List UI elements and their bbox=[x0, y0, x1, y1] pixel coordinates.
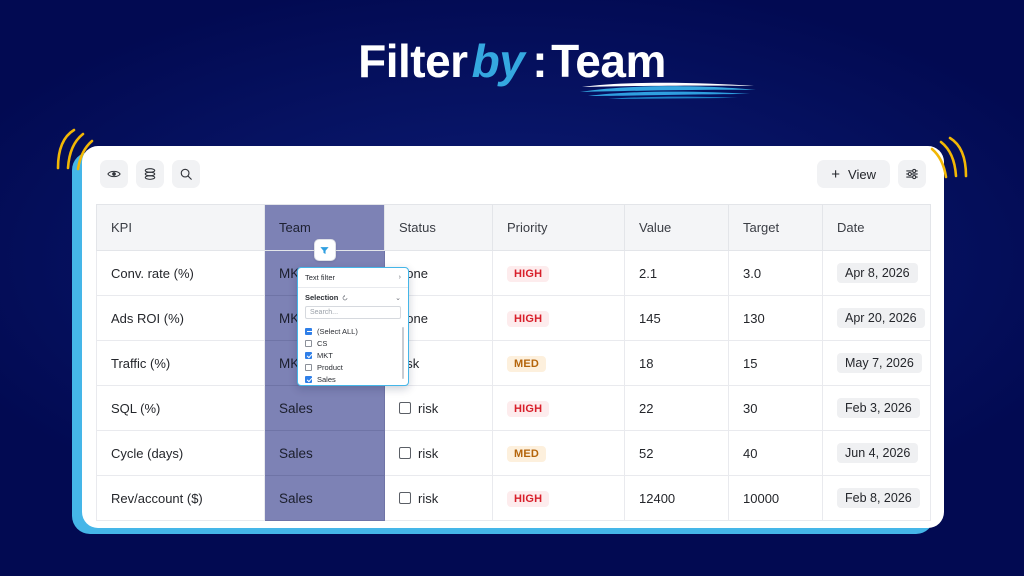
title-part-team: Team bbox=[551, 35, 666, 87]
filter-option-checkbox[interactable] bbox=[305, 328, 312, 335]
layers-icon-button[interactable] bbox=[136, 160, 164, 188]
layers-icon bbox=[143, 167, 157, 181]
value-text: 22 bbox=[639, 401, 653, 416]
table-row[interactable]: Ads ROI (%)MKTdoneHIGH145130Apr 20, 2026 bbox=[97, 296, 931, 341]
column-header-value[interactable]: Value bbox=[625, 205, 729, 251]
filter-option-label: MKT bbox=[317, 351, 333, 360]
cell-priority[interactable]: HIGH bbox=[493, 476, 625, 521]
filter-option-label: Sales bbox=[317, 375, 336, 384]
cell-status[interactable]: risk bbox=[385, 386, 493, 431]
cell-target[interactable]: 10000 bbox=[729, 476, 823, 521]
table-header-row: KPI Team Status Priority Value Target Da… bbox=[97, 205, 931, 251]
search-icon-button[interactable] bbox=[172, 160, 200, 188]
date-chip: Jun 4, 2026 bbox=[837, 443, 918, 463]
column-header-team[interactable]: Team bbox=[265, 205, 385, 251]
table-row[interactable]: Conv. rate (%)MKTdoneHIGH2.13.0Apr 8, 20… bbox=[97, 251, 931, 296]
cell-target[interactable]: 40 bbox=[729, 431, 823, 476]
cell-team[interactable]: Sales bbox=[265, 386, 385, 431]
sliders-icon bbox=[905, 167, 919, 181]
cell-date[interactable]: Feb 3, 2026 bbox=[823, 386, 931, 431]
kpi-table: KPI Team Status Priority Value Target Da… bbox=[96, 204, 931, 521]
add-view-label: View bbox=[848, 167, 876, 182]
filter-option[interactable]: MKT bbox=[305, 349, 408, 361]
cell-kpi[interactable]: Traffic (%) bbox=[97, 341, 265, 386]
cell-priority[interactable]: HIGH bbox=[493, 296, 625, 341]
selection-row[interactable]: Selection ⌄ bbox=[298, 288, 408, 306]
filter-search-input[interactable]: Search... bbox=[305, 306, 401, 319]
filter-option-checkbox[interactable] bbox=[305, 340, 312, 347]
column-header-kpi[interactable]: KPI bbox=[97, 205, 265, 251]
status-checkbox[interactable] bbox=[399, 402, 411, 414]
cell-status[interactable]: risk bbox=[385, 476, 493, 521]
filter-option[interactable]: Sales bbox=[305, 373, 408, 385]
cell-kpi[interactable]: Ads ROI (%) bbox=[97, 296, 265, 341]
kpi-label: Rev/account ($) bbox=[111, 491, 203, 506]
cell-kpi[interactable]: Cycle (days) bbox=[97, 431, 265, 476]
date-chip: Feb 3, 2026 bbox=[837, 398, 920, 418]
page-title: Filterby:Team bbox=[0, 34, 1024, 88]
cell-kpi[interactable]: Rev/account ($) bbox=[97, 476, 265, 521]
table-row[interactable]: SQL (%)SalesriskHIGH2230Feb 3, 2026 bbox=[97, 386, 931, 431]
column-header-date[interactable]: Date bbox=[823, 205, 931, 251]
cell-team[interactable]: Sales bbox=[265, 431, 385, 476]
team-filter-button[interactable] bbox=[314, 239, 336, 261]
text-filter-row[interactable]: Text filter › bbox=[298, 268, 408, 288]
kpi-label: Cycle (days) bbox=[111, 446, 183, 461]
title-colon: : bbox=[528, 35, 551, 87]
target-text: 15 bbox=[743, 356, 757, 371]
filter-list-scrollbar[interactable] bbox=[402, 327, 404, 379]
table-row[interactable]: Rev/account ($)SalesriskHIGH1240010000Fe… bbox=[97, 476, 931, 521]
column-header-priority[interactable]: Priority bbox=[493, 205, 625, 251]
title-part-by: by bbox=[468, 35, 529, 87]
kpi-label: SQL (%) bbox=[111, 401, 160, 416]
cell-date[interactable]: May 7, 2026 bbox=[823, 341, 931, 386]
filter-option-label: CS bbox=[317, 339, 327, 348]
cell-value[interactable]: 12400 bbox=[625, 476, 729, 521]
table-row[interactable]: Cycle (days)SalesriskMED5240Jun 4, 2026 bbox=[97, 431, 931, 476]
target-text: 10000 bbox=[743, 491, 779, 506]
column-header-team-label: Team bbox=[279, 220, 311, 235]
add-view-button[interactable]: + View bbox=[817, 160, 890, 188]
table-row[interactable]: Traffic (%)MKTriskMED1815May 7, 2026 bbox=[97, 341, 931, 386]
date-chip: Feb 8, 2026 bbox=[837, 488, 920, 508]
grid-toolbar: + View bbox=[82, 146, 944, 198]
value-text: 145 bbox=[639, 311, 661, 326]
filter-option[interactable]: CS bbox=[305, 337, 408, 349]
cell-target[interactable]: 130 bbox=[729, 296, 823, 341]
filter-search-placeholder: Search... bbox=[310, 309, 338, 316]
cell-value[interactable]: 145 bbox=[625, 296, 729, 341]
status-label: risk bbox=[418, 401, 438, 416]
cell-priority[interactable]: MED bbox=[493, 431, 625, 476]
chevron-down-icon: ⌄ bbox=[395, 294, 401, 302]
kpi-label: Conv. rate (%) bbox=[111, 266, 194, 281]
value-text: 2.1 bbox=[639, 266, 657, 281]
priority-badge: MED bbox=[507, 446, 546, 462]
team-label: Sales bbox=[279, 446, 313, 461]
status-checkbox[interactable] bbox=[399, 492, 411, 504]
cell-status[interactable]: risk bbox=[385, 431, 493, 476]
cell-priority[interactable]: MED bbox=[493, 341, 625, 386]
cell-team[interactable]: Sales bbox=[265, 476, 385, 521]
cell-target[interactable]: 30 bbox=[729, 386, 823, 431]
cell-kpi[interactable]: Conv. rate (%) bbox=[97, 251, 265, 296]
date-chip: Apr 20, 2026 bbox=[837, 308, 925, 328]
filter-option-label: (Select ALL) bbox=[317, 327, 358, 336]
cell-date[interactable]: Apr 20, 2026 bbox=[823, 296, 931, 341]
status-label: risk bbox=[418, 491, 438, 506]
cell-date[interactable]: Jun 4, 2026 bbox=[823, 431, 931, 476]
target-text: 130 bbox=[743, 311, 765, 326]
filter-option-list: (Select ALL)CSMKTProductSalesSupport bbox=[298, 323, 408, 385]
target-text: 40 bbox=[743, 446, 757, 461]
selection-label: Selection bbox=[305, 293, 338, 302]
column-header-status[interactable]: Status bbox=[385, 205, 493, 251]
target-text: 30 bbox=[743, 401, 757, 416]
filter-option-checkbox[interactable] bbox=[305, 376, 312, 383]
kpi-label: Ads ROI (%) bbox=[111, 311, 184, 326]
title-part-filter: Filter bbox=[358, 35, 467, 87]
value-text: 12400 bbox=[639, 491, 675, 506]
eye-icon-button[interactable] bbox=[100, 160, 128, 188]
cell-target[interactable]: 15 bbox=[729, 341, 823, 386]
value-text: 18 bbox=[639, 356, 653, 371]
team-filter-popup[interactable]: Text filter › Selection ⌄ Search... (Sel… bbox=[297, 267, 409, 386]
kpi-label: Traffic (%) bbox=[111, 356, 170, 371]
cell-value[interactable]: 52 bbox=[625, 431, 729, 476]
target-text: 3.0 bbox=[743, 266, 761, 281]
eye-icon bbox=[107, 167, 121, 181]
status-checkbox[interactable] bbox=[399, 447, 411, 459]
chevron-right-icon: › bbox=[399, 274, 401, 281]
cell-target[interactable]: 3.0 bbox=[729, 251, 823, 296]
search-icon bbox=[179, 167, 193, 181]
filter-option[interactable]: (Select ALL) bbox=[305, 325, 408, 337]
value-text: 52 bbox=[639, 446, 653, 461]
filter-option-label: Product bbox=[317, 363, 343, 372]
cell-priority[interactable]: HIGH bbox=[493, 251, 625, 296]
date-chip: Apr 8, 2026 bbox=[837, 263, 918, 283]
table-body: Conv. rate (%)MKTdoneHIGH2.13.0Apr 8, 20… bbox=[97, 251, 931, 521]
refresh-icon[interactable] bbox=[342, 295, 348, 301]
filter-option-checkbox[interactable] bbox=[305, 352, 312, 359]
cell-priority[interactable]: HIGH bbox=[493, 386, 625, 431]
priority-badge: MED bbox=[507, 356, 546, 372]
column-header-target[interactable]: Target bbox=[729, 205, 823, 251]
cell-kpi[interactable]: SQL (%) bbox=[97, 386, 265, 431]
date-chip: May 7, 2026 bbox=[837, 353, 922, 373]
cell-date[interactable]: Feb 8, 2026 bbox=[823, 476, 931, 521]
cell-date[interactable]: Apr 8, 2026 bbox=[823, 251, 931, 296]
cell-value[interactable]: 22 bbox=[625, 386, 729, 431]
team-label: Sales bbox=[279, 491, 313, 506]
priority-badge: HIGH bbox=[507, 266, 549, 282]
sliders-icon-button[interactable] bbox=[898, 160, 926, 188]
filter-option[interactable]: Product bbox=[305, 361, 408, 373]
filter-option-checkbox[interactable] bbox=[305, 364, 312, 371]
plus-icon: + bbox=[831, 167, 840, 182]
cell-value[interactable]: 18 bbox=[625, 341, 729, 386]
cell-value[interactable]: 2.1 bbox=[625, 251, 729, 296]
status-label: risk bbox=[418, 446, 438, 461]
data-grid-card: + View KPI Team bbox=[82, 146, 944, 528]
funnel-icon bbox=[319, 245, 330, 256]
priority-badge: HIGH bbox=[507, 401, 549, 417]
text-filter-label: Text filter bbox=[305, 273, 335, 282]
priority-badge: HIGH bbox=[507, 311, 549, 327]
priority-badge: HIGH bbox=[507, 491, 549, 507]
team-label: Sales bbox=[279, 401, 313, 416]
